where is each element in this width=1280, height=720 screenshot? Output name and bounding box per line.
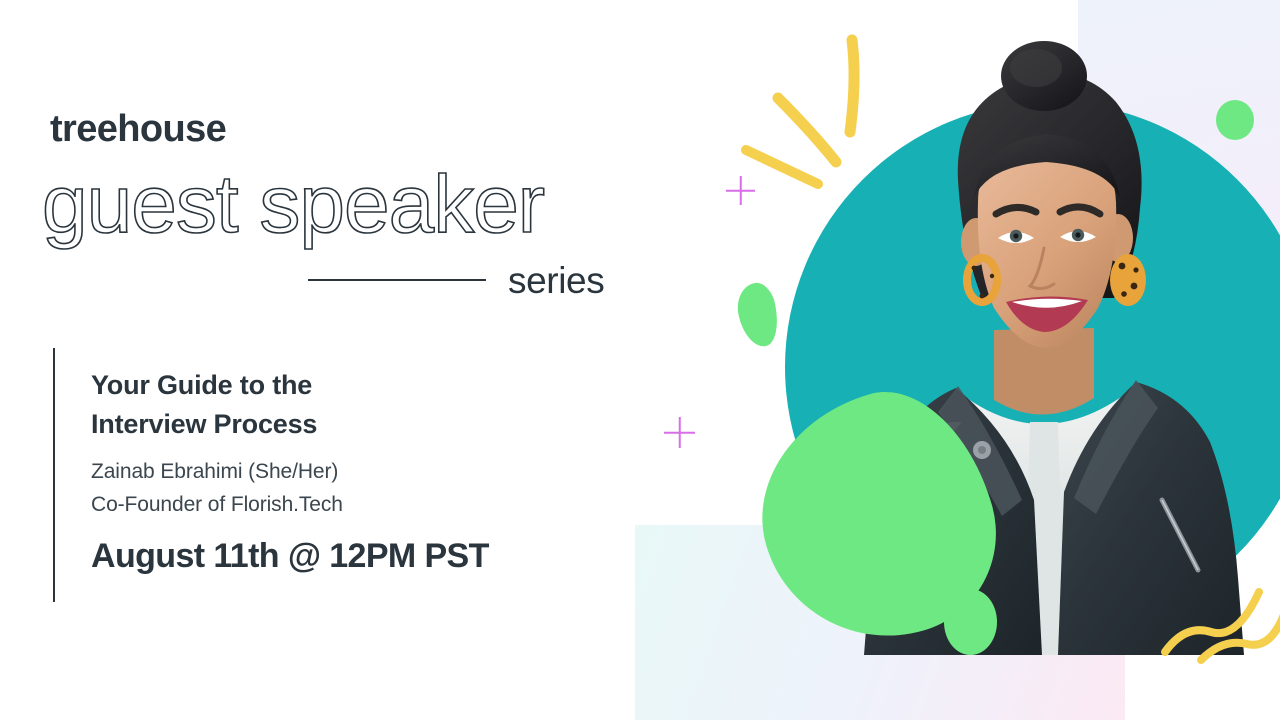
headline-outlined: guest speaker	[36, 150, 676, 260]
magenta-plus-icon-lower	[664, 417, 695, 448]
event-info-block: Your Guide to the Interview Process Zain…	[91, 366, 631, 576]
speaker-name: Zainab Ebrahimi (She/Her)	[91, 456, 631, 489]
speaker-role: Co-Founder of Florish.Tech	[91, 489, 631, 522]
event-datetime: August 11th @ 12PM PST	[91, 538, 631, 575]
series-label: series	[508, 262, 604, 299]
talk-title: Your Guide to the Interview Process	[91, 366, 631, 444]
series-row: series	[308, 258, 626, 302]
talk-title-line-2: Interview Process	[91, 405, 631, 444]
talk-title-line-1: Your Guide to the	[91, 366, 631, 405]
green-blob-small-shape	[733, 280, 783, 351]
headline-text: guest speaker	[42, 159, 544, 250]
series-divider-rule	[308, 279, 486, 281]
vertical-accent-bar	[53, 348, 55, 602]
green-circle-shape	[944, 589, 997, 655]
brand-wordmark: treehouse	[50, 110, 226, 148]
magenta-plus-icon-upper	[726, 176, 755, 205]
slide-canvas: treehouse guest speaker series Your Guid…	[0, 0, 1280, 720]
yellow-wave-strokes	[1163, 578, 1280, 698]
yellow-sparkle-strokes	[740, 28, 900, 188]
